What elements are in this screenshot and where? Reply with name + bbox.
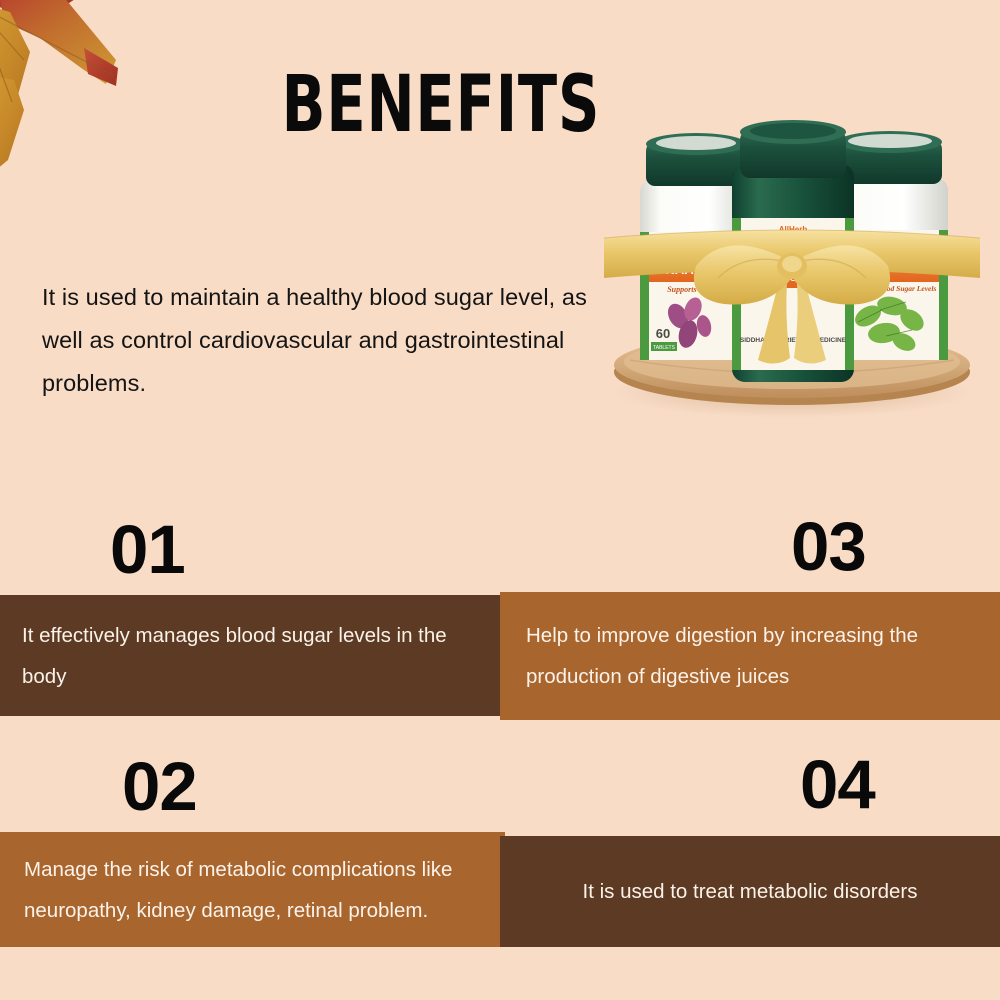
benefit-number-04: 04 <box>800 750 875 819</box>
benefit-text-02: Manage the risk of metabolic complicatio… <box>24 849 481 931</box>
benefit-number-03: 03 <box>791 512 866 581</box>
benefit-number-01: 01 <box>110 515 185 584</box>
benefit-band-03: Help to improve digestion by increasing … <box>500 592 1000 720</box>
benefit-band-04: It is used to treat metabolic disorders <box>500 836 1000 947</box>
benefit-band-02: Manage the risk of metabolic complicatio… <box>0 832 505 947</box>
svg-text:SIDDHA PROPRIETARY MEDICINE: SIDDHA PROPRIETARY MEDICINE <box>740 337 847 344</box>
benefit-text-03: Help to improve digestion by increasing … <box>526 615 974 697</box>
benefit-number-02: 02 <box>122 752 197 821</box>
benefit-text-01: It effectively manages blood sugar level… <box>22 615 478 697</box>
benefit-band-01: It effectively manages blood sugar level… <box>0 595 500 716</box>
intro-paragraph: It is used to maintain a healthy blood s… <box>42 276 598 405</box>
product-bottles-photo: NAAVALP Supports Healthy 60 TABLETS SIRU… <box>596 120 988 420</box>
benefit-text-04: It is used to treat metabolic disorders <box>526 871 974 912</box>
svg-text:TABLETS: TABLETS <box>653 345 676 351</box>
svg-text:60: 60 <box>656 326 670 341</box>
